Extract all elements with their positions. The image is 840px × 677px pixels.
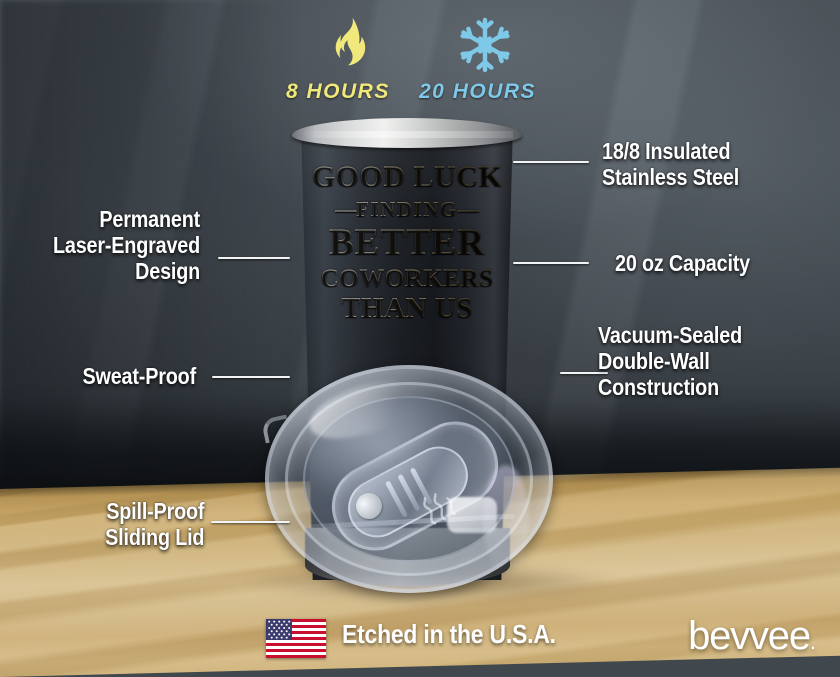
bevvee-wordmark: bevvee xyxy=(688,614,810,658)
feature-line: Design xyxy=(53,258,200,284)
engraved-line-3: BETTER xyxy=(307,224,507,261)
feature-insulated-stainless-steel: 18/8 Insulated Stainless Steel xyxy=(602,138,739,190)
flame-icon xyxy=(322,16,378,72)
leader-line-sweat-proof xyxy=(212,376,290,378)
feature-line: Construction xyxy=(598,374,742,400)
feature-line: Sweat-Proof xyxy=(82,363,196,389)
engraved-line-4: COWORKERS xyxy=(307,266,507,291)
hot-retention-label: 8 HOURS xyxy=(286,80,390,104)
feature-laser-engraved-design: Permanent Laser-Engraved Design xyxy=(53,206,200,284)
feature-line: 18/8 Insulated xyxy=(602,138,739,164)
heat-retention-row: 8 HOURS 20 HOURS xyxy=(0,14,840,110)
leader-line-capacity xyxy=(513,262,589,264)
engraved-line-2-text: FINDING xyxy=(356,197,458,221)
bevvee-trademark-dot: . xyxy=(810,629,816,654)
engraved-dash-left: — xyxy=(335,197,356,221)
sliding-lid xyxy=(265,365,553,593)
leader-line-laser-engraved xyxy=(218,257,290,259)
feature-spill-proof-sliding-lid: Spill-Proof Sliding Lid xyxy=(105,498,204,550)
etched-in-usa-label: Etched in the U.S.A. xyxy=(342,619,556,650)
leader-line-stainless xyxy=(513,161,589,163)
product-infographic: GOOD LUCK —FINDING— BETTER COWORKERS THA… xyxy=(0,0,840,677)
engraved-quote: GOOD LUCK —FINDING— BETTER COWORKERS THA… xyxy=(307,162,507,323)
cold-retention-label: 20 HOURS xyxy=(419,80,536,104)
feature-line: Sliding Lid xyxy=(105,524,204,550)
engraved-line-1: GOOD LUCK xyxy=(307,162,507,192)
engraved-dash-right: — xyxy=(458,197,479,221)
feature-sweat-proof: Sweat-Proof xyxy=(82,363,196,389)
feature-vacuum-sealed-construction: Vacuum-Sealed Double-Wall Construction xyxy=(598,322,742,400)
lid-glint-right xyxy=(483,465,529,575)
snowflake-icon xyxy=(456,16,514,74)
lid-thumb-nub xyxy=(351,488,386,523)
bevvee-logo: bevvee. xyxy=(688,614,816,659)
feature-line: Stainless Steel xyxy=(602,164,739,190)
feature-line: 20 oz Capacity xyxy=(615,250,750,276)
leader-line-sliding-lid xyxy=(211,521,290,523)
feature-line: Spill-Proof xyxy=(105,498,204,524)
feature-capacity: 20 oz Capacity xyxy=(615,250,750,276)
engraved-line-5: THAN US xyxy=(307,294,507,323)
feature-line: Double-Wall xyxy=(598,348,742,374)
usa-flag-icon xyxy=(266,619,326,658)
tumbler-steel-rim xyxy=(292,118,522,148)
engraved-line-2: —FINDING— xyxy=(307,199,507,220)
feature-line: Permanent xyxy=(53,206,200,232)
feature-line: Vacuum-Sealed xyxy=(598,322,742,348)
feature-line: Laser-Engraved xyxy=(53,232,200,258)
